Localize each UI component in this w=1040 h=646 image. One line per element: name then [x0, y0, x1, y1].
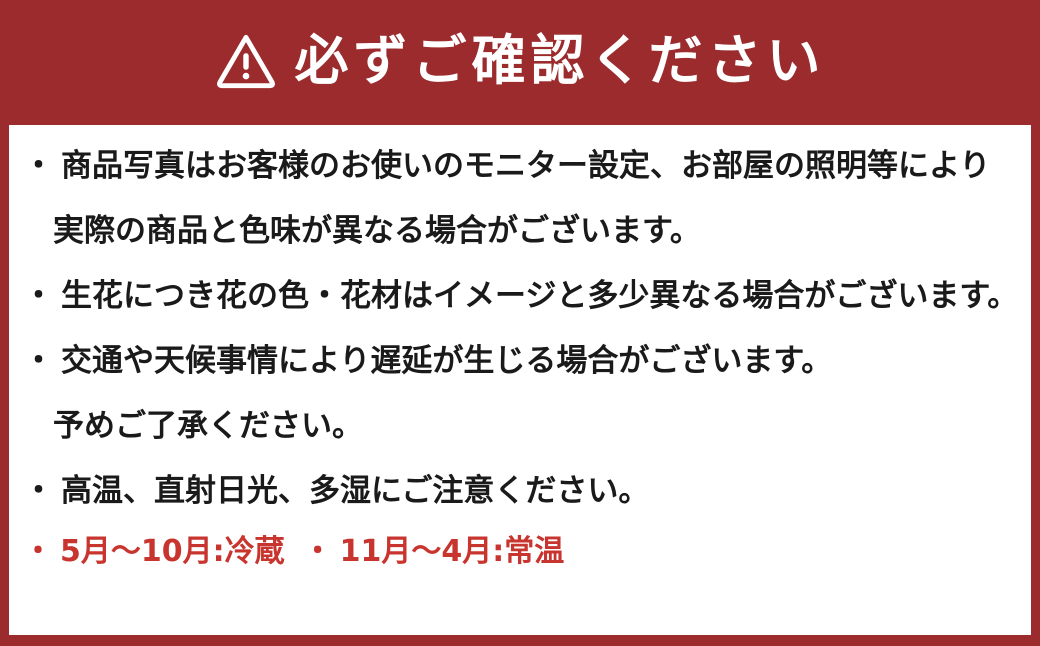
notice-card: 必ずご確認ください ・ 商品写真はお客様のお使いのモニター設定、お部屋の照明等に… — [0, 0, 1040, 646]
notice-line-6-text: 高温、直射日光、多湿にご注意ください。 — [61, 476, 649, 507]
storage-note-refrigerated: 5月〜10月:冷蔵 — [60, 537, 285, 567]
notice-line-2: 実際の商品と色味が異なる場合がございます。 — [23, 216, 1023, 247]
bullet-marker: ・ — [23, 346, 54, 377]
notice-title: 必ずご確認ください — [295, 34, 826, 88]
notice-body: ・ 商品写真はお客様のお使いのモニター設定、お部屋の照明等により 実際の商品と色… — [9, 125, 1031, 635]
storage-note-ambient: 11月〜4月:常温 — [340, 537, 565, 567]
notice-line-3-text: 生花につき花の色・花材はイメージと多少異なる場合がございます。 — [61, 281, 1018, 312]
notice-line-5: 予めご了承ください。 — [23, 411, 1023, 442]
notice-header: 必ずご確認ください — [0, 0, 1040, 125]
notice-line-4: ・ 交通や天候事情により遅延が生じる場合がございます。 — [23, 346, 1023, 377]
bullet-marker: ・ — [23, 537, 53, 567]
warning-triangle-icon — [215, 32, 277, 90]
bullet-marker: ・ — [23, 281, 54, 312]
notice-line-1-text: 商品写真はお客様のお使いのモニター設定、お部屋の照明等により — [61, 151, 990, 182]
storage-note-line: ・ 5月〜10月:冷蔵 ・ 11月〜4月:常温 — [23, 537, 1023, 567]
bullet-marker-second: ・ — [303, 537, 333, 567]
header-inner: 必ずご確認ください — [215, 32, 826, 90]
notice-line-3: ・ 生花につき花の色・花材はイメージと多少異なる場合がございます。 — [23, 281, 1023, 312]
bullet-marker: ・ — [23, 151, 54, 182]
notice-line-4-text: 交通や天候事情により遅延が生じる場合がございます。 — [61, 346, 832, 377]
notice-line-6: ・ 高温、直射日光、多湿にご注意ください。 — [23, 476, 1023, 507]
notice-line-5-text: 予めご了承ください。 — [53, 411, 363, 442]
notice-line-2-text: 実際の商品と色味が異なる場合がございます。 — [53, 216, 701, 247]
bullet-marker: ・ — [23, 476, 54, 507]
notice-line-1: ・ 商品写真はお客様のお使いのモニター設定、お部屋の照明等により — [23, 151, 1023, 182]
